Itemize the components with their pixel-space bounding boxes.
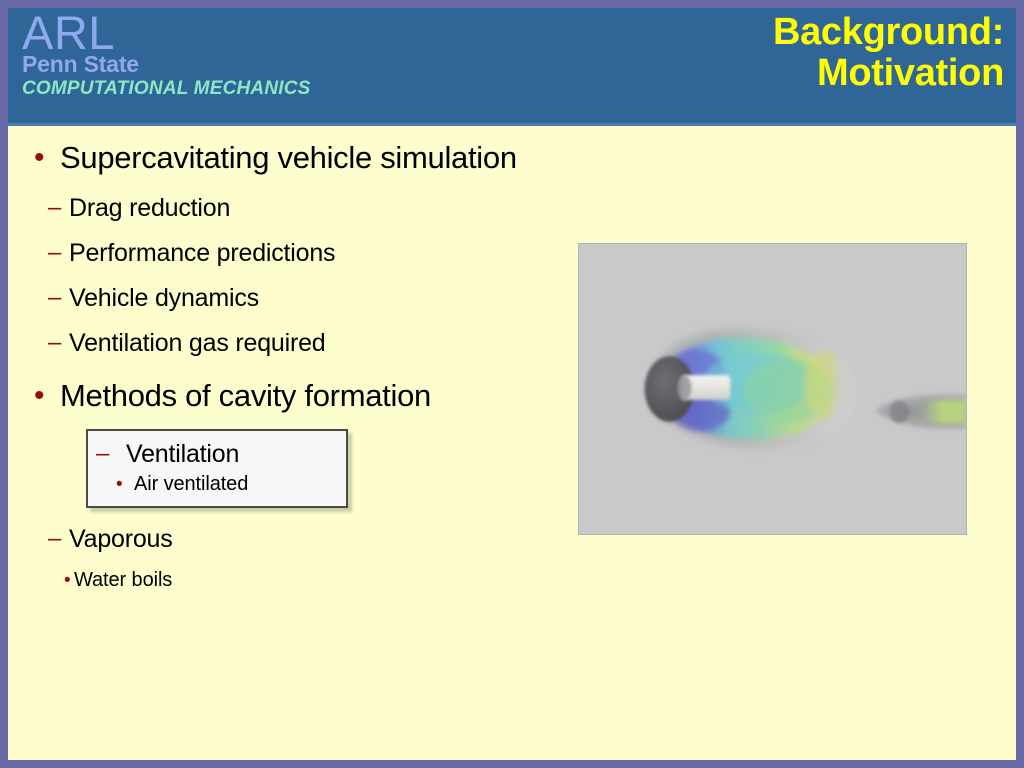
bullet-text: Vaporous xyxy=(69,522,173,556)
bullet-item: – Vaporous xyxy=(26,522,586,556)
bullet-item: – Performance predictions xyxy=(26,236,586,270)
page-title-line-2: Motivation xyxy=(444,53,1004,94)
bullet-text: Drag reduction xyxy=(69,191,230,225)
bullet-item: • Water boils xyxy=(26,567,586,594)
bullet-text: Performance predictions xyxy=(69,236,335,270)
spacer xyxy=(26,420,586,429)
bullet-text: Ventilation gas required xyxy=(69,326,326,360)
bullet-marker-icon: • xyxy=(88,471,134,498)
slide-canvas: ARL Penn State COMPUTATIONAL MECHANICS B… xyxy=(8,8,1016,760)
slide-header-band: ARL Penn State COMPUTATIONAL MECHANICS B… xyxy=(8,8,1016,126)
secondary-object-nose xyxy=(889,401,909,423)
bullet-marker-icon: • xyxy=(26,376,60,416)
slide-content: • Supercavitating vehicle simulation – D… xyxy=(26,138,586,596)
logo-department-text: COMPUTATIONAL MECHANICS xyxy=(22,79,311,98)
bullet-dash-icon: – xyxy=(26,191,69,225)
bullet-text: Supercavitating vehicle simulation xyxy=(60,138,517,178)
logo-institution-text: Penn State xyxy=(22,53,311,76)
bullet-dash-icon: – xyxy=(88,437,126,471)
spacer xyxy=(26,508,586,522)
spacer xyxy=(26,227,586,236)
bullet-item: – Drag reduction xyxy=(26,191,586,225)
spacer xyxy=(26,182,586,191)
logo-org-text: ARL xyxy=(22,10,311,55)
bullet-item: – Ventilation xyxy=(88,437,342,471)
bullet-dash-icon: – xyxy=(26,281,69,315)
bullet-text: Water boils xyxy=(74,567,172,594)
vehicle-body-joint xyxy=(677,375,691,401)
bullet-text: Air ventilated xyxy=(134,471,248,498)
bullet-item: • Air ventilated xyxy=(88,471,342,498)
spacer xyxy=(26,317,586,326)
bullet-marker-icon: • xyxy=(26,567,74,594)
bullet-item: • Supercavitating vehicle simulation xyxy=(26,138,586,178)
page-title: Background: Motivation xyxy=(444,12,1004,94)
spacer xyxy=(26,558,586,567)
bullet-text: Ventilation xyxy=(126,437,239,471)
spacer xyxy=(26,272,586,281)
bullet-text: Vehicle dynamics xyxy=(69,281,259,315)
bullet-item: – Ventilation gas required xyxy=(26,326,586,360)
spacer xyxy=(26,362,586,376)
bullet-dash-icon: – xyxy=(26,326,69,360)
bullet-dash-icon: – xyxy=(26,522,69,556)
bullet-dash-icon: – xyxy=(26,236,69,270)
cfd-figure xyxy=(578,243,967,535)
supercavitating-vehicle-image xyxy=(579,244,966,534)
bullet-item: – Vehicle dynamics xyxy=(26,281,586,315)
arl-penn-state-logo: ARL Penn State COMPUTATIONAL MECHANICS xyxy=(22,10,311,98)
highlight-callout-box: – Ventilation • Air ventilated xyxy=(86,429,348,508)
page-title-line-1: Background: xyxy=(444,12,1004,53)
presentation-slide: ARL Penn State COMPUTATIONAL MECHANICS B… xyxy=(0,0,1024,768)
bullet-marker-icon: • xyxy=(26,138,60,178)
bullet-item: • Methods of cavity formation xyxy=(26,376,586,416)
bullet-text: Methods of cavity formation xyxy=(60,376,431,416)
